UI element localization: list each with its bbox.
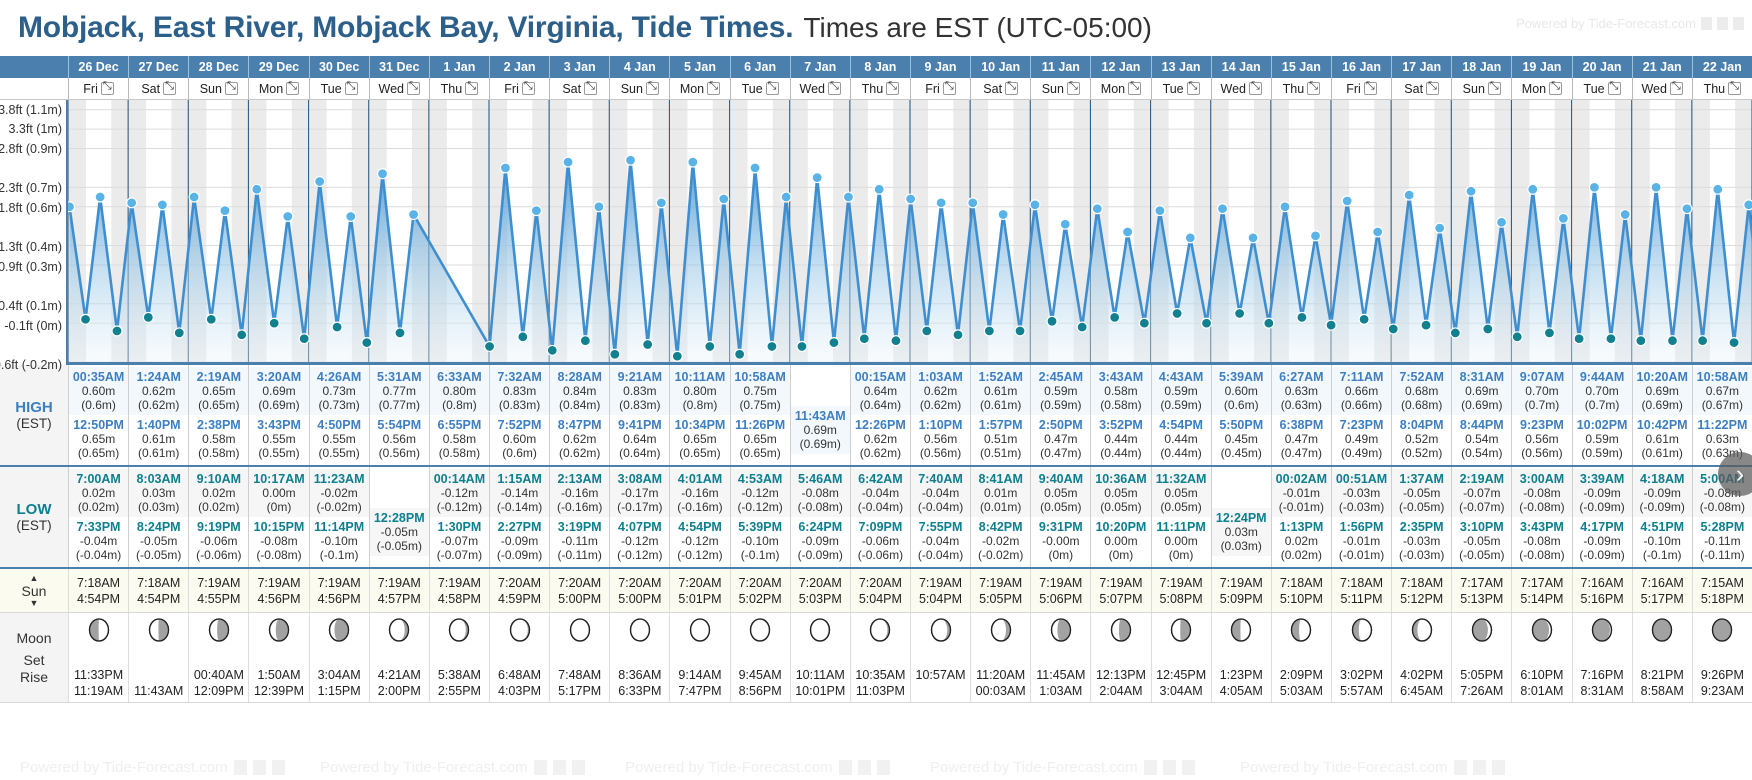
sunset-time: 4:54PM bbox=[137, 592, 180, 606]
low-height-alt: (-0.02m) bbox=[978, 548, 1023, 562]
moonrise-time: 1:15PM bbox=[318, 684, 361, 699]
expand-icon[interactable] bbox=[1128, 82, 1141, 95]
low-height-alt: (-0.04m) bbox=[76, 548, 121, 562]
sun-cell-24: 7:17AM5:14PM bbox=[1511, 569, 1571, 612]
date-header-5[interactable]: 31 Dec bbox=[369, 56, 429, 78]
weekday-cell-25[interactable]: Tue bbox=[1572, 78, 1632, 100]
weekday-cell-8[interactable]: Sat bbox=[549, 78, 609, 100]
weekday-cell-13[interactable]: Thu bbox=[850, 78, 910, 100]
date-header-19[interactable]: 14 Jan bbox=[1211, 56, 1271, 78]
high-tide-cell-6: 6:33AM0.80m(0.8m)6:55PM0.58m(0.58m) bbox=[429, 365, 489, 465]
low-height: -0.04m bbox=[922, 534, 959, 548]
sun-cell-15: 7:19AM5:05PM bbox=[970, 569, 1030, 612]
watermark-icon-0 bbox=[1144, 760, 1157, 775]
high-time: 9:44AM bbox=[1580, 370, 1624, 384]
moonset-time: 9:14AM bbox=[678, 668, 721, 683]
moonrise-time: 00:03AM bbox=[976, 684, 1026, 699]
expand-icon[interactable] bbox=[1187, 82, 1200, 95]
low-tide-cell-2: 9:10AM0.02m(0.02m)9:19PM-0.06m(-0.06m) bbox=[188, 467, 248, 567]
weekday-cell-22[interactable]: Sat bbox=[1391, 78, 1451, 100]
sunrise-time: 7:20AM bbox=[678, 576, 721, 590]
high-tide-cell-22: 7:52AM0.68m(0.68m)8:04PM0.52m(0.52m) bbox=[1391, 365, 1451, 465]
low-height-alt: (-0.02m) bbox=[316, 500, 361, 514]
high-height-alt: (0.56m) bbox=[1521, 446, 1562, 460]
watermark-icon-0 bbox=[234, 760, 247, 775]
low-entry: 1:56PM-0.01m(-0.01m) bbox=[1332, 517, 1391, 565]
low-entry: 5:28PM-0.11m(-0.11m) bbox=[1693, 517, 1752, 565]
low-tide-rows: LOW (EST) 7:00AM0.02m(0.02m)7:33PM-0.04m… bbox=[0, 467, 1752, 567]
low-time: 8:42PM bbox=[979, 520, 1023, 534]
weekday-cell-9[interactable]: Sun bbox=[609, 78, 669, 100]
expand-icon[interactable] bbox=[584, 82, 597, 95]
date-header-7[interactable]: 2 Jan bbox=[489, 56, 549, 78]
high-time: 12:26PM bbox=[855, 418, 906, 432]
sunset-time: 5:18PM bbox=[1701, 592, 1744, 606]
high-height: 0.54m bbox=[1465, 432, 1498, 446]
sunrise-time: 7:19AM bbox=[1099, 576, 1142, 590]
weekday-cell-12[interactable]: Wed bbox=[790, 78, 850, 100]
low-height: 0.05m bbox=[1164, 486, 1197, 500]
low-height-alt: (-0.05m) bbox=[377, 539, 422, 553]
low-height-alt: (-0.14m) bbox=[497, 500, 542, 514]
low-time: 1:56PM bbox=[1340, 520, 1384, 534]
moon-phase-icon bbox=[1591, 617, 1613, 650]
sunrise-time: 7:20AM bbox=[739, 576, 782, 590]
high-entry: 6:55PM0.58m(0.58m) bbox=[430, 415, 489, 463]
high-entry: 2:50PM0.47m(0.47m) bbox=[1031, 415, 1090, 463]
sun-row: Sun 7:18AM4:54PM7:18AM4:54PM7:19AM4:55PM… bbox=[0, 569, 1752, 613]
weekday-cell-19[interactable]: Wed bbox=[1211, 78, 1271, 100]
low-height: 0.05m bbox=[1044, 486, 1077, 500]
expand-icon[interactable] bbox=[225, 82, 238, 95]
watermark-text: Powered by Tide-Forecast.com bbox=[20, 759, 228, 776]
watermark-icon-2 bbox=[1717, 17, 1728, 30]
high-height: 0.84m bbox=[563, 384, 596, 398]
low-entry: 9:19PM-0.06m(-0.06m) bbox=[189, 517, 248, 565]
expand-icon[interactable] bbox=[1549, 82, 1562, 95]
date-header-9[interactable]: 4 Jan bbox=[609, 56, 669, 78]
low-height-alt: (-0.08m) bbox=[1519, 500, 1564, 514]
sunset-time: 4:56PM bbox=[318, 592, 361, 606]
expand-icon[interactable] bbox=[1249, 82, 1262, 95]
expand-icon[interactable] bbox=[101, 82, 114, 95]
expand-icon[interactable] bbox=[1670, 82, 1683, 95]
weekday-cell-6[interactable]: Thu bbox=[429, 78, 489, 100]
weekday-label: Fri bbox=[83, 82, 98, 96]
moonrise-time: 6:33PM bbox=[618, 684, 661, 699]
high-tide-cell-23: 8:31AM0.69m(0.69m)8:44PM0.54m(0.54m) bbox=[1451, 365, 1511, 465]
expand-icon[interactable] bbox=[163, 82, 176, 95]
high-height: 0.69m bbox=[1646, 384, 1679, 398]
low-height: -0.06m bbox=[862, 534, 899, 548]
date-header-25[interactable]: 20 Jan bbox=[1572, 56, 1632, 78]
low-height: -0.10m bbox=[741, 534, 778, 548]
moonrise-time: 5:57AM bbox=[1340, 684, 1383, 699]
sunset-time: 5:04PM bbox=[919, 592, 962, 606]
high-time: 8:47PM bbox=[558, 418, 602, 432]
low-time: 1:15AM bbox=[497, 472, 541, 486]
low-height: 0.02m bbox=[202, 486, 235, 500]
high-tide-cell-0: 00:35AM0.60m(0.6m)12:50PM0.65m(0.65m) bbox=[68, 365, 128, 465]
moonrise-time: 11:43AM bbox=[134, 684, 183, 699]
low-entry: 3:39AM-0.09m(-0.09m) bbox=[1573, 469, 1632, 517]
moonset-time: 2:09PM bbox=[1280, 668, 1323, 683]
sunrise-time: 7:20AM bbox=[558, 576, 601, 590]
date-header-24[interactable]: 19 Jan bbox=[1511, 56, 1571, 78]
weekday-spacer bbox=[0, 78, 68, 100]
weekday-cell-23[interactable]: Sun bbox=[1451, 78, 1511, 100]
high-entry: 10:11AM0.80m(0.8m) bbox=[670, 367, 729, 415]
date-header-22[interactable]: 17 Jan bbox=[1391, 56, 1451, 78]
moon-times: 11:43AM bbox=[134, 668, 183, 702]
weekday-cell-2[interactable]: Sun bbox=[188, 78, 248, 100]
date-header-14[interactable]: 9 Jan bbox=[910, 56, 970, 78]
weekday-cell-3[interactable]: Mon bbox=[248, 78, 308, 100]
low-height: -0.04m bbox=[862, 486, 899, 500]
high-height: 0.44m bbox=[1164, 432, 1197, 446]
date-header-20[interactable]: 15 Jan bbox=[1271, 56, 1331, 78]
expand-icon[interactable] bbox=[943, 82, 956, 95]
moonrise-time: 2:55PM bbox=[438, 684, 481, 699]
low-height: 0.00m bbox=[1164, 534, 1197, 548]
high-height-alt: (0.84m) bbox=[559, 398, 600, 412]
weekday-cell-15[interactable]: Sat bbox=[970, 78, 1030, 100]
expand-icon[interactable] bbox=[1307, 82, 1320, 95]
low-height-alt: (-0.07m) bbox=[437, 548, 482, 562]
high-entry: 3:20AM0.69m(0.69m) bbox=[249, 367, 308, 415]
low-entry: 12:24PM0.03m(0.03m) bbox=[1212, 508, 1271, 556]
sunset-time: 5:05PM bbox=[979, 592, 1022, 606]
low-height-alt: (0.01m) bbox=[980, 500, 1021, 514]
high-height-alt: (0.6m) bbox=[1224, 398, 1259, 412]
high-tide-cell-14: 1:03AM0.62m(0.62m)1:10PM0.56m(0.56m) bbox=[910, 365, 970, 465]
weekday-cell-0[interactable]: Fri bbox=[68, 78, 128, 100]
low-tide-cell-13: 6:42AM-0.04m(-0.04m)7:09PM-0.06m(-0.06m) bbox=[850, 467, 910, 567]
high-entry: 3:43AM0.58m(0.58m) bbox=[1091, 367, 1150, 415]
moon-times: 9:45AM8:56PM bbox=[739, 668, 782, 702]
date-header-18[interactable]: 13 Jan bbox=[1151, 56, 1211, 78]
date-header-8[interactable]: 3 Jan bbox=[549, 56, 609, 78]
date-header-15[interactable]: 10 Jan bbox=[970, 56, 1030, 78]
high-tide-cell-21: 7:11AM0.66m(0.66m)7:23PM0.49m(0.49m) bbox=[1331, 365, 1391, 465]
low-time: 7:33PM bbox=[77, 520, 121, 534]
weekday-cell-21[interactable]: Fri bbox=[1331, 78, 1391, 100]
moon-phase-icon bbox=[1290, 617, 1312, 650]
low-time: 2:27PM bbox=[498, 520, 542, 534]
weekday-cell-24[interactable]: Mon bbox=[1511, 78, 1571, 100]
high-entry: 5:31AM0.77m(0.77m) bbox=[370, 367, 429, 415]
low-height-alt: (-0.12m) bbox=[617, 548, 662, 562]
low-height-alt: (0.05m) bbox=[1040, 500, 1081, 514]
sunrise-time: 7:19AM bbox=[1160, 576, 1203, 590]
moon-times: 10:11AM10:01PM bbox=[795, 668, 845, 702]
low-height-alt: (-0.11m) bbox=[1700, 548, 1744, 562]
sunrise-arrow-icon bbox=[30, 574, 39, 583]
weekday-label: Mon bbox=[259, 82, 283, 96]
expand-icon[interactable] bbox=[828, 82, 841, 95]
moonrise-time: 11:03PM bbox=[856, 684, 905, 699]
date-header-17[interactable]: 12 Jan bbox=[1090, 56, 1150, 78]
watermark-icon-3 bbox=[1733, 17, 1744, 30]
high-tide-cell-11: 10:58AM0.75m(0.75m)11:26PM0.65m(0.65m) bbox=[730, 365, 790, 465]
date-header-10[interactable]: 5 Jan bbox=[669, 56, 729, 78]
expand-icon[interactable] bbox=[465, 82, 478, 95]
high-height-alt: (0.62m) bbox=[920, 398, 961, 412]
sun-label-text: Sun bbox=[22, 583, 47, 599]
low-height: -0.16m bbox=[681, 486, 718, 500]
high-tide-section: HIGH (EST) 00:35AM0.60m(0.6m)12:50PM0.65… bbox=[0, 365, 1752, 467]
date-header-4[interactable]: 30 Dec bbox=[309, 56, 369, 78]
high-height: 0.69m bbox=[262, 384, 295, 398]
weekday-cell-17[interactable]: Mon bbox=[1090, 78, 1150, 100]
expand-icon[interactable] bbox=[1364, 82, 1377, 95]
date-header-27[interactable]: 22 Jan bbox=[1692, 56, 1752, 78]
low-entry: 3:43PM-0.08m(-0.08m) bbox=[1512, 517, 1571, 565]
high-height: 0.65m bbox=[82, 432, 115, 446]
high-time: 6:55PM bbox=[438, 418, 482, 432]
high-time: 12:50PM bbox=[73, 418, 124, 432]
sunset-time: 5:13PM bbox=[1460, 592, 1503, 606]
expand-icon[interactable] bbox=[1488, 82, 1501, 95]
low-tide-cell-21: 00:51AM-0.03m(-0.03m)1:56PM-0.01m(-0.01m… bbox=[1331, 467, 1391, 567]
low-height: -0.17m bbox=[621, 486, 658, 500]
sunrise-time: 7:17AM bbox=[1520, 576, 1563, 590]
high-height: 0.63m bbox=[1706, 432, 1739, 446]
sun-label: Sun bbox=[0, 569, 68, 612]
sunrise-time: 7:19AM bbox=[257, 576, 300, 590]
high-height-alt: (0.66m) bbox=[1341, 398, 1382, 412]
moon-phase-icon bbox=[1471, 617, 1493, 650]
high-tide-cell-1: 1:24AM0.62m(0.62m)1:40PM0.61m(0.61m) bbox=[128, 365, 188, 465]
high-entry: 2:38PM0.58m(0.58m) bbox=[189, 415, 248, 463]
moon-cell-6: 5:38AM2:55PM bbox=[429, 613, 489, 702]
low-time: 3:43PM bbox=[1520, 520, 1564, 534]
sunset-time: 4:56PM bbox=[257, 592, 300, 606]
sun-cell-4: 7:19AM4:56PM bbox=[309, 569, 369, 612]
date-header-6[interactable]: 1 Jan bbox=[429, 56, 489, 78]
moonrise-time: 10:01PM bbox=[795, 684, 845, 699]
weekday-label: Fri bbox=[504, 82, 519, 96]
footer-watermark-0: Powered by Tide-Forecast.com bbox=[20, 759, 285, 776]
expand-icon[interactable] bbox=[286, 82, 299, 95]
moon-cell-5: 4:21AM2:00PM bbox=[369, 613, 429, 702]
moon-times: 11:45AM1:03AM bbox=[1036, 668, 1085, 702]
low-entry: 2:35PM-0.03m(-0.03m) bbox=[1392, 517, 1451, 565]
low-time: 11:32AM bbox=[1156, 472, 1207, 486]
low-height: -0.05m bbox=[140, 534, 177, 548]
moonset-time: 11:20AM bbox=[976, 668, 1025, 683]
moon-phase-icon bbox=[509, 617, 531, 650]
sunset-time: 5:07PM bbox=[1099, 592, 1142, 606]
weekday-cell-16[interactable]: Sun bbox=[1030, 78, 1090, 100]
moon-phase-icon bbox=[1230, 617, 1252, 650]
high-height-alt: (0.55m) bbox=[318, 446, 359, 460]
low-height: -0.09m bbox=[501, 534, 538, 548]
sun-cell-2: 7:19AM4:55PM bbox=[188, 569, 248, 612]
low-height: -0.04m bbox=[922, 486, 959, 500]
low-height-alt: (0.03m) bbox=[138, 500, 179, 514]
high-time: 9:41PM bbox=[618, 418, 662, 432]
low-time: 8:41AM bbox=[978, 472, 1022, 486]
low-time: 00:14AM bbox=[434, 472, 485, 486]
high-height-alt: (0.61m) bbox=[138, 446, 179, 460]
weekday-cell-10[interactable]: Mon bbox=[669, 78, 729, 100]
weekday-cell-7[interactable]: Fri bbox=[489, 78, 549, 100]
expand-icon[interactable] bbox=[886, 82, 899, 95]
weekday-cell-4[interactable]: Tue bbox=[309, 78, 369, 100]
high-height-alt: (0.61m) bbox=[980, 398, 1021, 412]
moon-phase-icon bbox=[448, 617, 470, 650]
low-entry: 1:37AM-0.05m(-0.05m) bbox=[1392, 469, 1451, 517]
high-tide-rows: HIGH (EST) 00:35AM0.60m(0.6m)12:50PM0.65… bbox=[0, 365, 1752, 465]
low-height-alt: (-0.05m) bbox=[136, 548, 181, 562]
low-height-alt: (0.02m) bbox=[1281, 548, 1322, 562]
header-watermark: Powered by Tide-Forecast.com bbox=[1516, 16, 1744, 31]
sunrise-time: 7:18AM bbox=[1400, 576, 1443, 590]
date-header-23[interactable]: 18 Jan bbox=[1451, 56, 1511, 78]
weekday-label: Sun bbox=[1042, 82, 1064, 96]
high-time: 2:50PM bbox=[1039, 418, 1083, 432]
moon-cell-7: 6:48AM4:03PM bbox=[489, 613, 549, 702]
sun-cell-16: 7:19AM5:06PM bbox=[1030, 569, 1090, 612]
high-entry: 7:11AM0.66m(0.66m) bbox=[1332, 367, 1391, 415]
low-time: 3:00AM bbox=[1520, 472, 1564, 486]
expand-icon[interactable] bbox=[646, 82, 659, 95]
date-header-3[interactable]: 29 Dec bbox=[248, 56, 308, 78]
footer-watermarks: Powered by Tide-Forecast.comPowered by T… bbox=[0, 754, 1752, 780]
low-height: -0.07m bbox=[1463, 486, 1500, 500]
high-height-alt: (0.64m) bbox=[619, 446, 660, 460]
sunset-time: 5:12PM bbox=[1400, 592, 1443, 606]
low-time: 7:09PM bbox=[859, 520, 903, 534]
moon-cell-24: 6:10PM8:01AM bbox=[1511, 613, 1571, 702]
date-header-13[interactable]: 8 Jan bbox=[850, 56, 910, 78]
moon-times: 4:02PM6:45AM bbox=[1400, 668, 1443, 702]
weekday-cell-18[interactable]: Tue bbox=[1151, 78, 1211, 100]
moonrise-time: 3:04AM bbox=[1160, 684, 1203, 699]
sun-cell-17: 7:19AM5:07PM bbox=[1090, 569, 1150, 612]
moon-cell-8: 7:48AM5:17PM bbox=[549, 613, 609, 702]
date-header-11[interactable]: 6 Jan bbox=[730, 56, 790, 78]
low-label-text: LOW bbox=[17, 501, 52, 518]
high-height-alt: (0.45m) bbox=[1221, 446, 1262, 460]
low-time: 5:28PM bbox=[1700, 520, 1744, 534]
high-height: 0.67m bbox=[1706, 384, 1739, 398]
date-header-2[interactable]: 28 Dec bbox=[188, 56, 248, 78]
weekday-cell-27[interactable]: Thu bbox=[1692, 78, 1752, 100]
moon-times: 9:14AM7:47PM bbox=[678, 668, 721, 702]
high-height-alt: (0.59m) bbox=[1040, 398, 1081, 412]
expand-icon[interactable] bbox=[1005, 82, 1018, 95]
weekday-cell-26[interactable]: Wed bbox=[1632, 78, 1692, 100]
low-height-alt: (-0.09m) bbox=[798, 548, 843, 562]
expand-icon[interactable] bbox=[1608, 82, 1621, 95]
date-header-1[interactable]: 27 Dec bbox=[128, 56, 188, 78]
expand-icon[interactable] bbox=[522, 82, 535, 95]
expand-icon[interactable] bbox=[1728, 82, 1741, 95]
high-height: 0.70m bbox=[1525, 384, 1558, 398]
moon-cell-13: 10:35AM11:03PM bbox=[850, 613, 910, 702]
low-tide-cell-16: 9:40AM0.05m(0.05m)9:31PM-0.00m(0m) bbox=[1030, 467, 1090, 567]
high-tide-cell-8: 8:28AM0.84m(0.84m)8:47PM0.62m(0.62m) bbox=[549, 365, 609, 465]
low-height: -0.14m bbox=[501, 486, 538, 500]
moon-times: 2:09PM5:03AM bbox=[1280, 668, 1323, 702]
high-entry: 6:33AM0.80m(0.8m) bbox=[430, 367, 489, 415]
low-tide-cell-7: 1:15AM-0.14m(-0.14m)2:27PM-0.09m(-0.09m) bbox=[489, 467, 549, 567]
low-time: 3:10PM bbox=[1460, 520, 1504, 534]
weekday-cell-20[interactable]: Thu bbox=[1271, 78, 1331, 100]
moon-cell-17: 12:13PM2:04AM bbox=[1090, 613, 1150, 702]
moon-row: Moon Set Rise 11:33PM11:19AM11:43AM00:40… bbox=[0, 613, 1752, 703]
low-entry: 8:03AM0.03m(0.03m) bbox=[129, 469, 188, 517]
high-height: 0.60m bbox=[1225, 384, 1258, 398]
weekday-label: Tue bbox=[321, 82, 342, 96]
weekday-label: Mon bbox=[1101, 82, 1125, 96]
weekday-label: Wed bbox=[1641, 82, 1666, 96]
moonset-time: 8:21PM bbox=[1641, 668, 1684, 683]
low-height: -0.05m bbox=[1403, 486, 1440, 500]
expand-icon[interactable] bbox=[407, 82, 420, 95]
high-entry: 7:32AM0.83m(0.83m) bbox=[490, 367, 549, 415]
expand-icon[interactable] bbox=[766, 82, 779, 95]
moon-cell-18: 12:45PM3:04AM bbox=[1151, 613, 1211, 702]
high-height: 0.73m bbox=[322, 384, 355, 398]
high-entry: 8:47PM0.62m(0.62m) bbox=[550, 415, 609, 463]
moonrise-time: 2:04AM bbox=[1099, 684, 1142, 699]
low-time: 4:53AM bbox=[738, 472, 782, 486]
high-tide-cell-10: 10:11AM0.80m(0.8m)10:34PM0.65m(0.65m) bbox=[669, 365, 729, 465]
low-height: -0.11m bbox=[1704, 534, 1740, 548]
date-header-26[interactable]: 21 Jan bbox=[1632, 56, 1692, 78]
low-height-alt: (-0.08m) bbox=[798, 500, 843, 514]
low-height-alt: (-0.1m) bbox=[1643, 548, 1682, 562]
expand-icon[interactable] bbox=[707, 82, 720, 95]
expand-icon[interactable] bbox=[345, 82, 358, 95]
high-entry: 10:20AM0.69m(0.69m) bbox=[1633, 367, 1692, 415]
date-header-21[interactable]: 16 Jan bbox=[1331, 56, 1391, 78]
moon-cell-19: 1:23PM4:05AM bbox=[1211, 613, 1271, 702]
high-height-alt: (0.62m) bbox=[860, 446, 901, 460]
weekday-cell-1[interactable]: Sat bbox=[128, 78, 188, 100]
date-header-16[interactable]: 11 Jan bbox=[1030, 56, 1090, 78]
high-height-alt: (0.69m) bbox=[258, 398, 299, 412]
high-time: 8:31AM bbox=[1460, 370, 1504, 384]
y-axis-tick-0: 3.8ft (1.1m) bbox=[0, 103, 62, 117]
high-height-alt: (0.59m) bbox=[1160, 398, 1201, 412]
expand-icon[interactable] bbox=[1426, 82, 1439, 95]
date-header-12[interactable]: 7 Jan bbox=[790, 56, 850, 78]
watermark-icon-0 bbox=[534, 760, 547, 775]
expand-icon[interactable] bbox=[1067, 82, 1080, 95]
low-height: -0.00m bbox=[1042, 534, 1079, 548]
weekday-cell-14[interactable]: Fri bbox=[910, 78, 970, 100]
watermark-icon-2 bbox=[572, 760, 585, 775]
low-entry: 00:14AM-0.12m(-0.12m) bbox=[430, 469, 489, 517]
date-header-0[interactable]: 26 Dec bbox=[68, 56, 128, 78]
sunset-time: 5:01PM bbox=[678, 592, 721, 606]
low-height-alt: (0.02m) bbox=[78, 500, 119, 514]
weekday-cell-11[interactable]: Tue bbox=[730, 78, 790, 100]
weekday-cell-5[interactable]: Wed bbox=[369, 78, 429, 100]
low-entry: 2:27PM-0.09m(-0.09m) bbox=[490, 517, 549, 565]
moonset-time: 1:23PM bbox=[1220, 668, 1263, 683]
high-height-alt: (0.67m) bbox=[1702, 398, 1743, 412]
low-tide-cell-17: 10:36AM0.05m(0.05m)10:20PM0.00m(0m) bbox=[1090, 467, 1150, 567]
low-height: 0.01m bbox=[984, 486, 1017, 500]
footer-watermark-4: Powered by Tide-Forecast.com bbox=[1240, 759, 1505, 776]
high-entry: 9:44AM0.70m(0.7m) bbox=[1573, 367, 1632, 415]
moon-times: 11:33PM11:19AM bbox=[74, 668, 123, 702]
